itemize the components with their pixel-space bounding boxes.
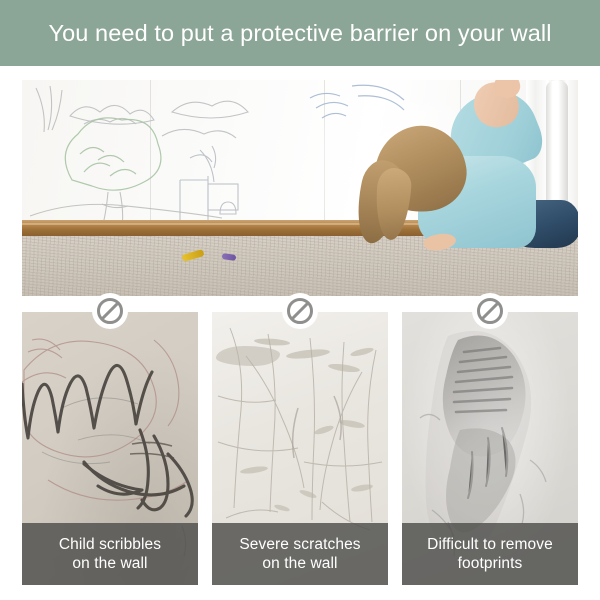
panel-caption: Child scribbles on the wall — [22, 523, 198, 585]
caption-line-2: footprints — [458, 555, 523, 572]
promo-infographic: You need to put a protective barrier on … — [0, 0, 600, 600]
caption-line-1: Difficult to remove — [427, 536, 553, 553]
girl-figure — [352, 98, 578, 248]
panel-severe-scratches: Severe scratches on the wall — [212, 312, 388, 585]
panel-caption: Severe scratches on the wall — [212, 523, 388, 585]
caption-line-2: on the wall — [72, 555, 147, 572]
caption-line-1: Severe scratches — [239, 536, 360, 553]
wall-seam — [150, 80, 151, 228]
caption-line-1: Child scribbles — [59, 536, 161, 553]
hero-photo — [22, 80, 578, 296]
page-title: You need to put a protective barrier on … — [48, 20, 551, 47]
panel-difficult-footprints: Difficult to remove footprints — [402, 312, 578, 585]
caption-line-2: on the wall — [262, 555, 337, 572]
no-entry-icon — [282, 293, 318, 329]
header-banner: You need to put a protective barrier on … — [0, 0, 600, 66]
no-entry-icon — [92, 293, 128, 329]
no-entry-icon — [472, 293, 508, 329]
panel-child-scribbles: Child scribbles on the wall — [22, 312, 198, 585]
panel-caption: Difficult to remove footprints — [402, 523, 578, 585]
